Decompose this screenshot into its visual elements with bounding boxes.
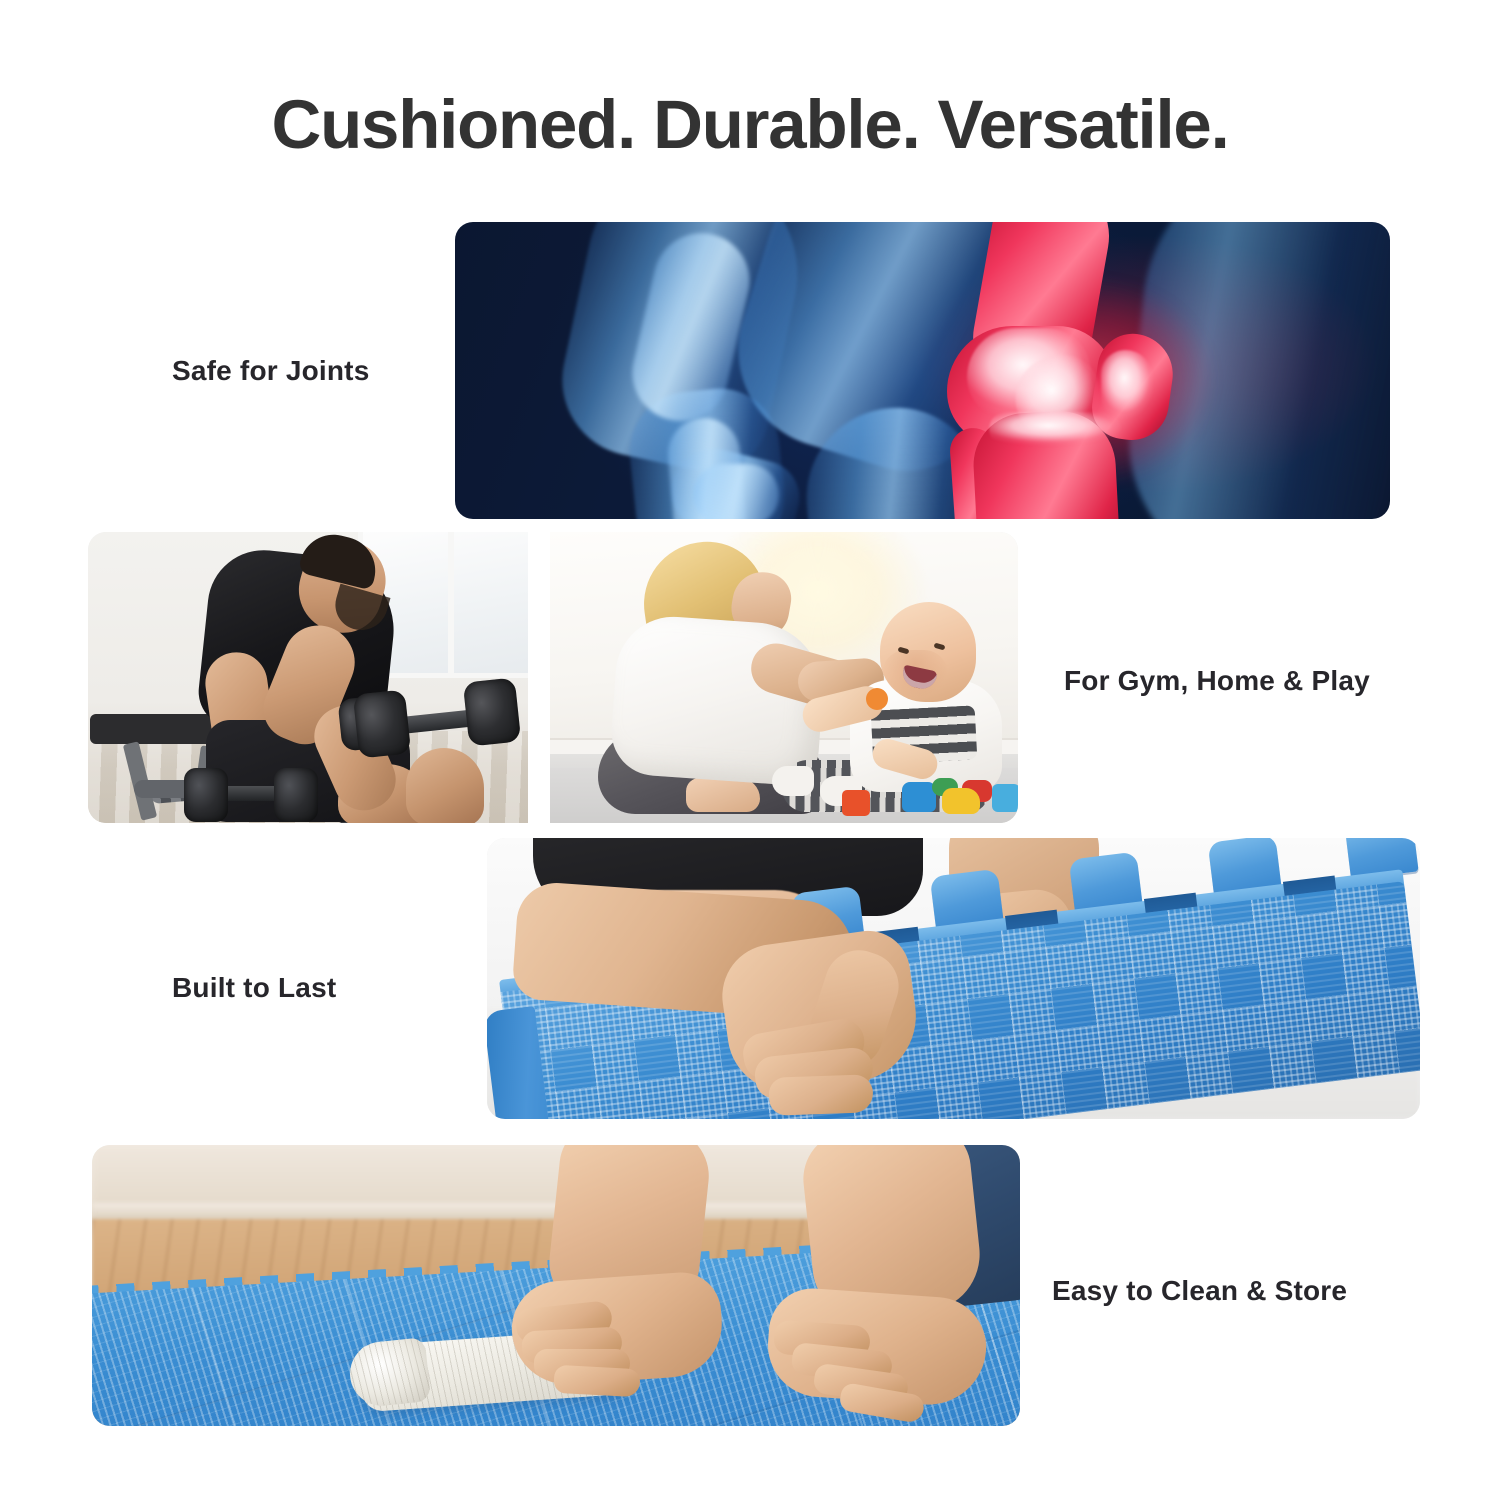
floor-dumbbell-plate-right [274, 768, 318, 822]
feature-image-gym [88, 532, 528, 823]
knee-cartilage-d [1101, 350, 1153, 420]
xray-ankle-bone [693, 464, 779, 519]
dumbbell-plate-right [463, 677, 521, 746]
floor-dumbbell-plate-left [184, 768, 228, 822]
feature-image-built-to-last [487, 838, 1420, 1119]
feature-label-built-to-last: Built to Last [172, 972, 336, 1004]
wiping-hand-finger-4 [553, 1365, 640, 1397]
toy-yellow-block [942, 788, 980, 814]
feature-label-safe-for-joints: Safe for Joints [172, 355, 369, 387]
knee-cartilage-c [989, 412, 1121, 446]
page-headline: Cushioned. Durable. Versatile. [0, 85, 1500, 164]
man-far-leg [406, 748, 484, 823]
baby-sock-left [772, 766, 814, 796]
feature-image-play [550, 532, 1018, 823]
feature-label-easy-to-clean-and-store: Easy to Clean & Store [1052, 1275, 1347, 1307]
mother-foot [686, 778, 760, 812]
feature-image-easy-to-clean [92, 1145, 1020, 1426]
infographic-page: Cushioned. Durable. Versatile. Safe for … [0, 0, 1500, 1500]
toy-blue-teapot [902, 782, 936, 812]
hand-finger-3 [768, 1074, 873, 1116]
toy-orange-cube [842, 790, 870, 816]
toy-orange-ball [866, 688, 888, 710]
toy-light-blue-cup [992, 784, 1018, 812]
dumbbell-plate-left [353, 689, 411, 758]
feature-label-for-gym-home-and-play: For Gym, Home & Play [1064, 665, 1370, 697]
feature-image-safe-for-joints [455, 222, 1390, 519]
